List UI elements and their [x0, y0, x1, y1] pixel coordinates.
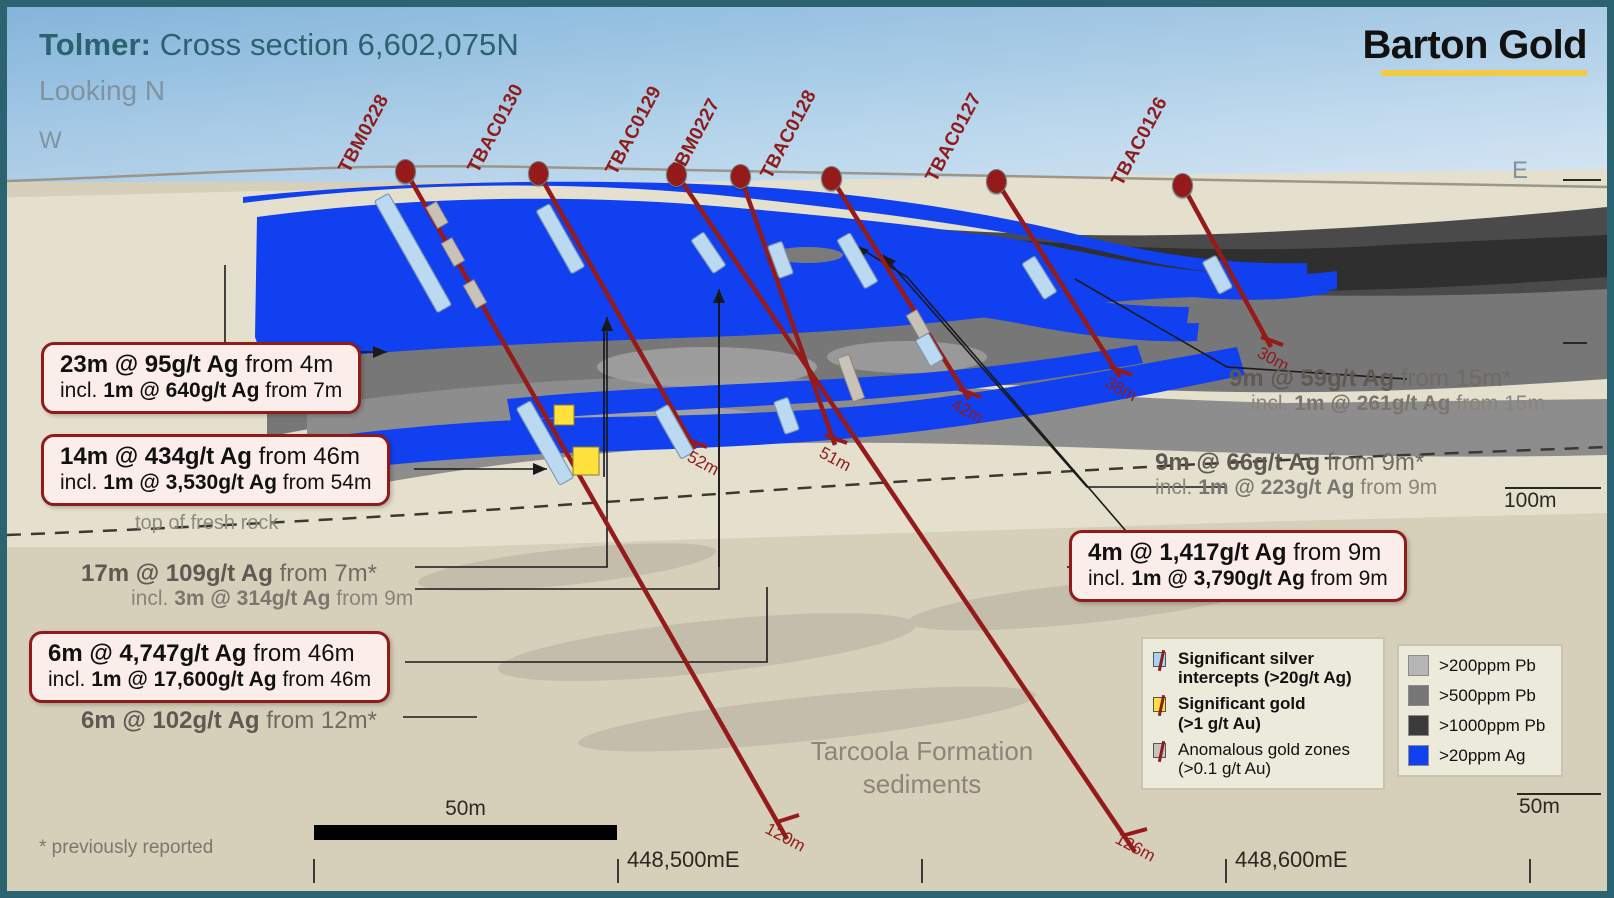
easting-label-1: 448,500mE — [627, 847, 740, 873]
legend-geochem-row: >1000ppm Pb — [1408, 715, 1553, 736]
callout-c1-line2: incl. 1m @ 640g/t Ag from 7m — [60, 379, 342, 403]
collar-TBM0228[interactable] — [395, 159, 416, 184]
swatch-pb-500-icon — [1408, 685, 1429, 706]
page-title-bold: Tolmer: — [39, 27, 151, 62]
swatch-pb-200-icon — [1408, 655, 1429, 676]
callout-c1: 23m @ 95g/t Ag from 4m incl. 1m @ 640g/t… — [41, 342, 361, 414]
scale-bar-label: 50m — [314, 797, 617, 821]
callout-c3-line1: 17m @ 109g/t Ag from 7m* — [81, 560, 413, 587]
callout-c4-line1: 6m @ 4,747g/t Ag from 46m — [48, 641, 371, 668]
page-title: Tolmer: Cross section 6,602,075N — [39, 27, 519, 63]
page-title-rest: Cross section 6,602,075N — [151, 27, 519, 62]
legend-silver-text: Significant silverintercepts (>20g/t Ag) — [1178, 649, 1352, 687]
callout-c1-line1: 23m @ 95g/t Ag from 4m — [60, 352, 342, 379]
anomalous-gold-flag-icon — [1153, 742, 1171, 762]
west-label: W — [39, 127, 62, 155]
legend-geochem-label: >20ppm Ag — [1439, 746, 1526, 766]
easting-label-2: 448,600mE — [1235, 847, 1348, 873]
legend-geochem-label: >200ppm Pb — [1439, 656, 1536, 676]
elevation-tick — [1563, 179, 1601, 181]
callout-c4-line2: incl. 1m @ 17,600g/t Ag from 46m — [48, 668, 371, 692]
legend-geochem-label: >500ppm Pb — [1439, 686, 1536, 706]
callout-c5: 6m @ 102g/t Ag from 12m* — [81, 707, 377, 734]
legend-geochem-row: >20ppm Ag — [1408, 745, 1553, 766]
formation-label-line2: sediments — [797, 768, 1047, 801]
top-of-fresh-rock-label: top of fresh rock — [135, 512, 278, 535]
callout-c6-line2: incl. 1m @ 261g/t Ag from 15m — [1251, 392, 1545, 416]
easting-tick — [1529, 859, 1531, 883]
swatch-pb-1000-icon — [1408, 715, 1429, 736]
legend-geochem-row: >500ppm Pb — [1408, 685, 1553, 706]
legend-row-silver: Significant silverintercepts (>20g/t Ag) — [1153, 649, 1375, 687]
brand-name: Barton Gold — [1363, 23, 1588, 68]
legend-geochem-label: >1000ppm Pb — [1439, 716, 1545, 736]
easting-tick — [617, 859, 619, 883]
formation-label: Tarcoola Formation sediments — [797, 735, 1047, 800]
collar-TBAC0130[interactable] — [528, 161, 549, 186]
east-label: E — [1512, 157, 1528, 185]
elevation-tick — [1563, 342, 1587, 344]
collar-TBAC0128[interactable] — [821, 166, 842, 191]
legend-gold-text: Significant gold(>1 g/t Au) — [1178, 694, 1306, 732]
view-direction-subtitle: Looking N — [39, 75, 165, 107]
callout-c3: 17m @ 109g/t Ag from 7m* incl. 3m @ 314g… — [81, 560, 413, 611]
callout-c8: 4m @ 1,417g/t Ag from 9m incl. 1m @ 3,79… — [1069, 530, 1407, 602]
callout-c6: 9m @ 59g/t Ag from 15m* incl. 1m @ 261g/… — [1229, 365, 1545, 416]
legend-geochem: >200ppm Pb >500ppm Pb >1000ppm Pb >20ppm… — [1397, 644, 1563, 777]
callout-c7: 9m @ 66g/t Ag from 9m* incl. 1m @ 223g/t… — [1155, 449, 1437, 500]
legend-symbols: Significant silverintercepts (>20g/t Ag)… — [1141, 637, 1385, 790]
legend-row-gold: Significant gold(>1 g/t Au) — [1153, 694, 1375, 732]
callout-c8-line2: incl. 1m @ 3,790g/t Ag from 9m — [1088, 567, 1388, 591]
easting-tick — [313, 859, 315, 883]
callout-c7-line1: 9m @ 66g/t Ag from 9m* — [1155, 449, 1437, 476]
legend-geochem-row: >200ppm Pb — [1408, 655, 1553, 676]
callout-c6-line1: 9m @ 59g/t Ag from 15m* — [1229, 365, 1545, 392]
scale-bar — [314, 825, 617, 840]
silver-flag-icon — [1153, 651, 1171, 671]
brand-logo: Barton Gold — [1363, 23, 1588, 76]
callout-c7-line2: incl. 1m @ 223g/t Ag from 9m — [1155, 476, 1437, 500]
easting-tick — [921, 859, 923, 883]
swatch-ag-20-icon — [1408, 745, 1429, 766]
cross-section-figure: TBM0228 120m TBAC0130 52m TBAC0129 126m — [0, 0, 1614, 898]
elevation-label-100: 100m — [1504, 489, 1557, 513]
collar-TBAC0126[interactable] — [1172, 173, 1193, 198]
callout-c2-line2: incl. 1m @ 3,530g/t Ag from 54m — [60, 471, 371, 495]
callout-c2: 14m @ 434g/t Ag from 46m incl. 1m @ 3,53… — [41, 434, 390, 506]
collar-TBM0227[interactable] — [730, 164, 751, 189]
callout-c4: 6m @ 4,747g/t Ag from 46m incl. 1m @ 17,… — [29, 631, 390, 703]
formation-label-line1: Tarcoola Formation — [797, 735, 1047, 768]
legend-row-anomalous: Anomalous gold zones(>0.1 g/t Au) — [1153, 740, 1375, 778]
gold-flag-icon — [1153, 696, 1171, 716]
callout-c3-line2: incl. 3m @ 314g/t Ag from 9m — [131, 587, 413, 611]
callout-c2-line1: 14m @ 434g/t Ag from 46m — [60, 444, 371, 471]
callout-c5-line1: 6m @ 102g/t Ag from 12m* — [81, 707, 377, 734]
easting-tick — [1225, 859, 1227, 883]
legend-anomalous-text: Anomalous gold zones(>0.1 g/t Au) — [1178, 740, 1350, 778]
footnote: * previously reported — [39, 837, 213, 859]
collar-TBAC0127[interactable] — [986, 169, 1007, 194]
brand-underline — [1381, 70, 1587, 76]
callout-c8-line1: 4m @ 1,417g/t Ag from 9m — [1088, 540, 1388, 567]
elevation-label-50: 50m — [1519, 795, 1560, 819]
